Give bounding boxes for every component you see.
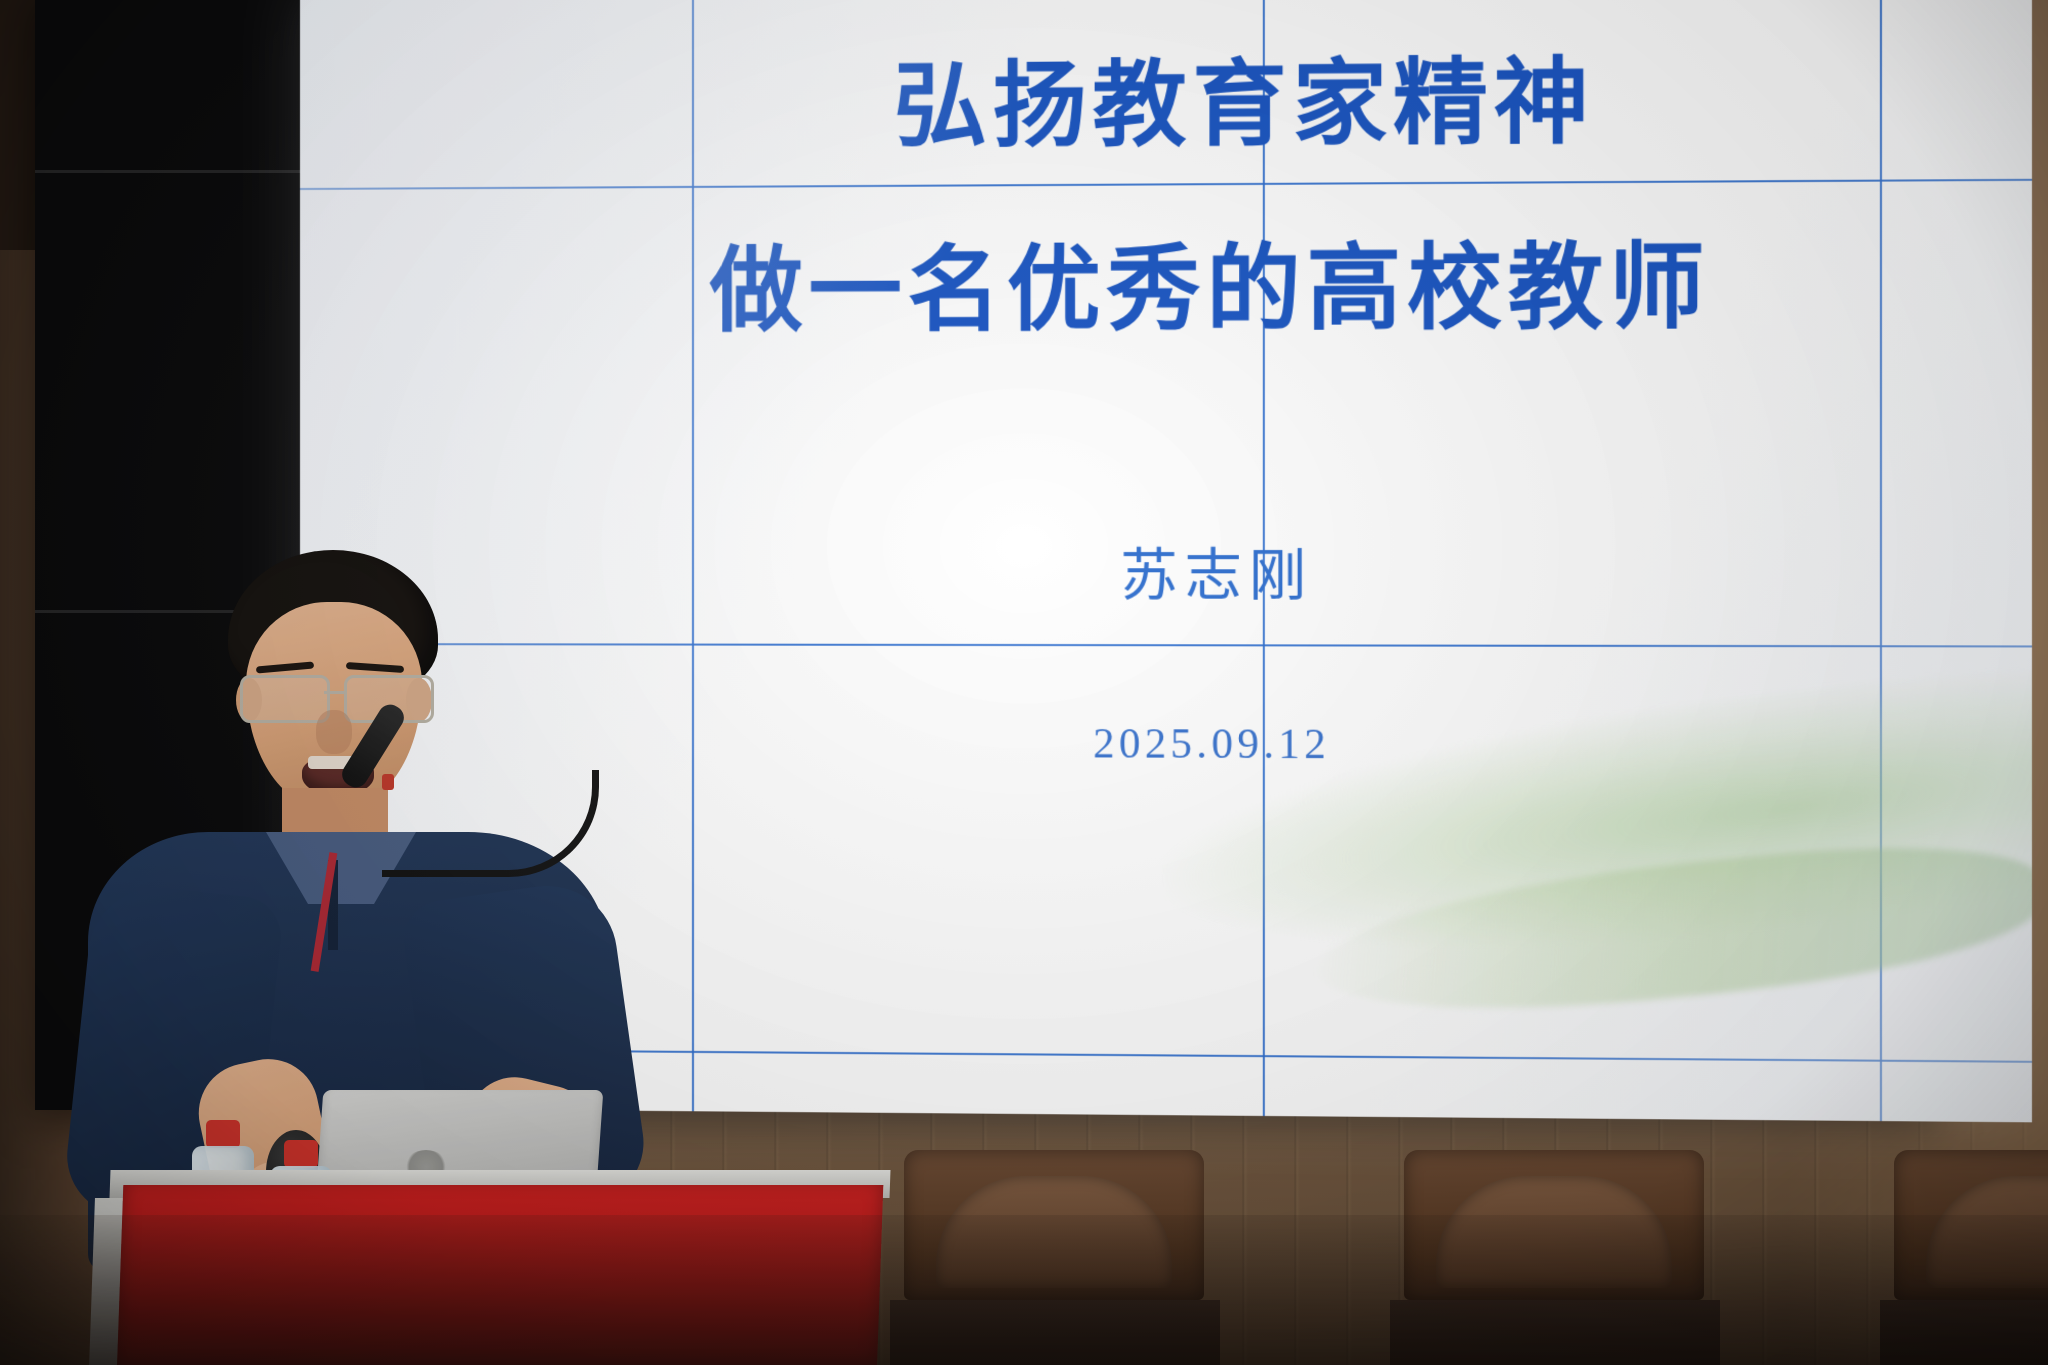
eyeglass-bridge bbox=[324, 691, 346, 694]
slide-title-line-2: 做一名优秀的高校教师 bbox=[300, 210, 2032, 351]
gooseneck-microphone bbox=[360, 700, 590, 890]
photo-scene: 弘扬教育家精神 做一名优秀的高校教师 苏志刚 2025.09.12 bbox=[0, 0, 2048, 1365]
gooseneck-mic-arm bbox=[382, 770, 599, 877]
floor-shadow-band bbox=[0, 1215, 2048, 1365]
eyeglass-lens-left bbox=[240, 675, 330, 723]
slide-title-line-1: 弘扬教育家精神 bbox=[300, 23, 2032, 169]
speaker-nose bbox=[316, 710, 352, 754]
slide-grid-line-horizontal bbox=[300, 179, 2032, 190]
gooseneck-mic-indicator bbox=[382, 774, 394, 790]
bottle-cap bbox=[284, 1140, 318, 1168]
bottle-cap bbox=[206, 1120, 240, 1148]
